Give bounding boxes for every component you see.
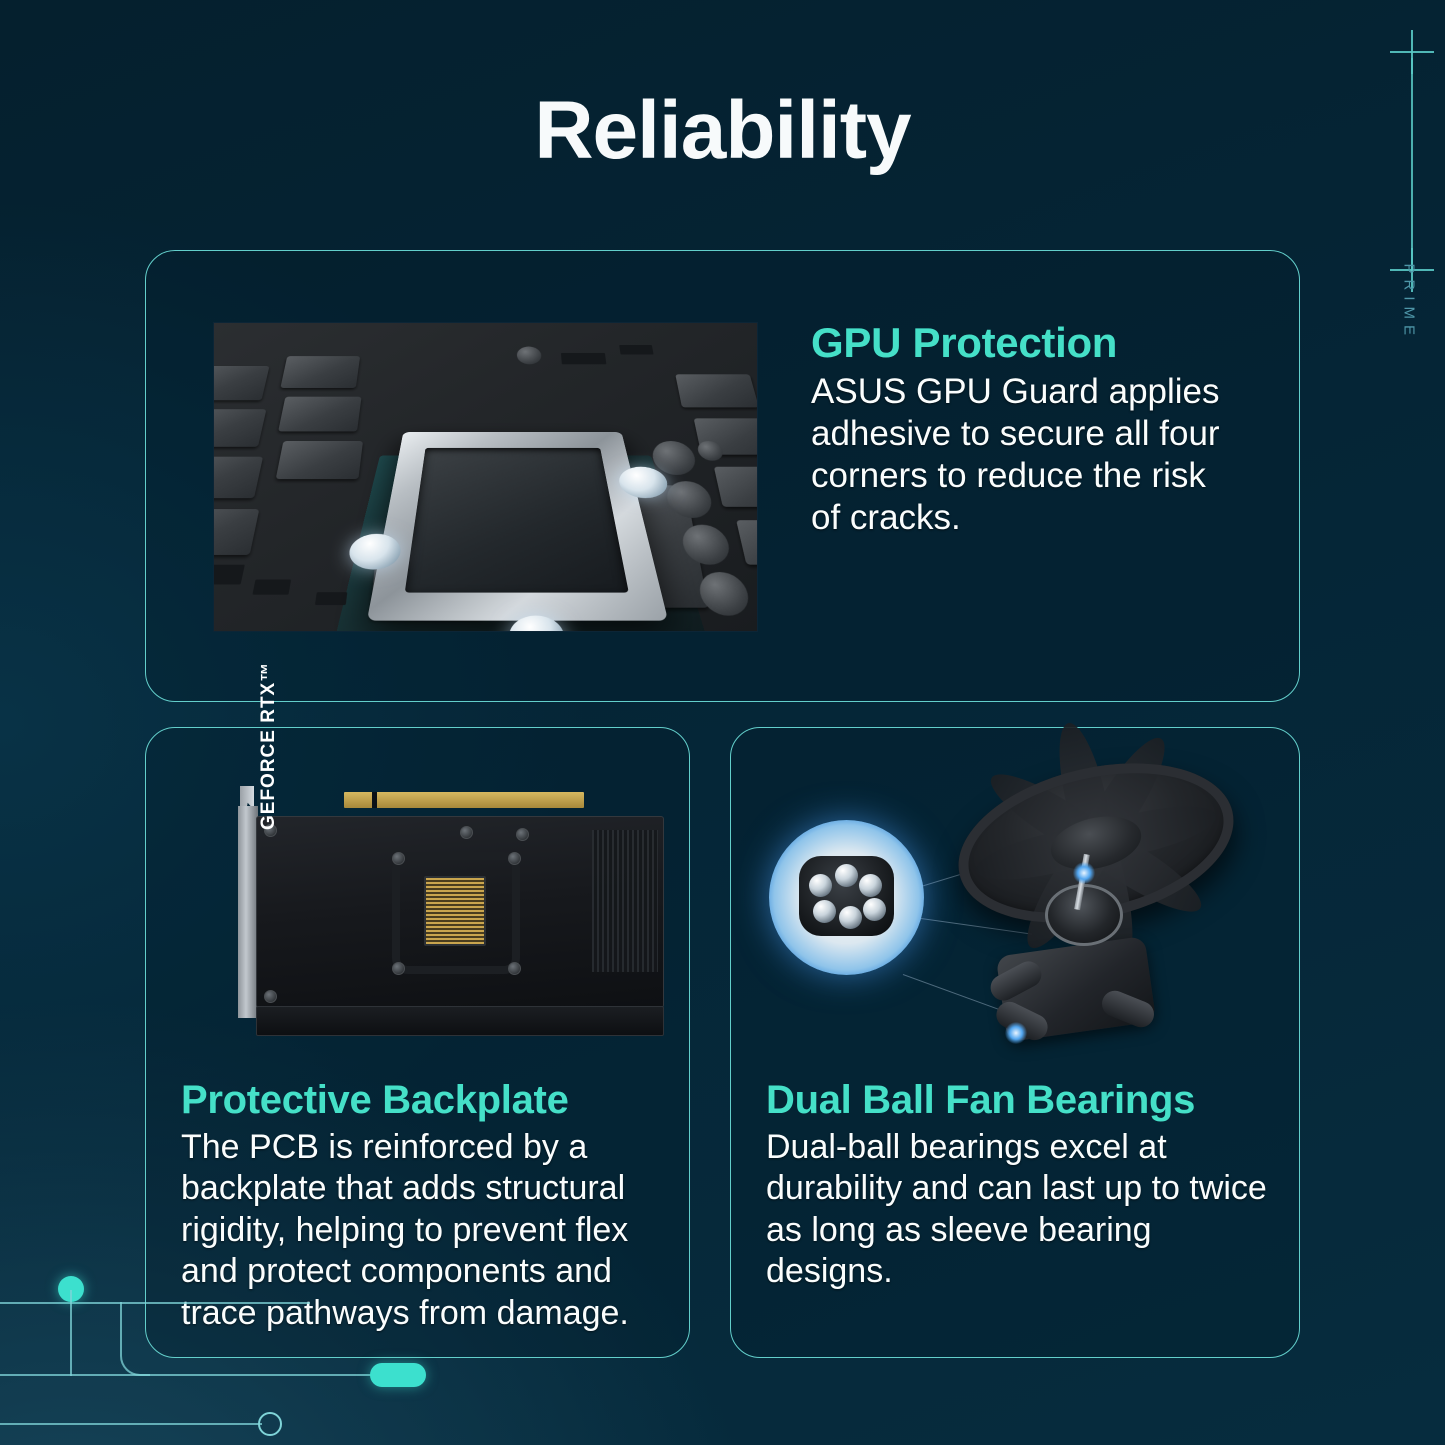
bearing-glow-point [1005, 1022, 1027, 1044]
dual-ball-fan-bearings-text: Dual Ball Fan Bearings Dual-ball bearing… [766, 1078, 1273, 1293]
card-heading: Protective Backplate [181, 1078, 663, 1123]
fan-hub-dual-ball-bearing-diagram [761, 758, 1261, 1058]
card-gpu-protection: GPU Protection ASUS GPU Guard applies ad… [145, 250, 1300, 702]
ball-bearing-cage [799, 856, 894, 936]
gpu-protection-text: GPU Protection ASUS GPU Guard applies ad… [811, 319, 1241, 539]
circuit-node-pill [370, 1363, 426, 1387]
card-heading: GPU Protection [811, 319, 1241, 367]
page-title: Reliability [0, 84, 1445, 178]
vertical-rule [1411, 58, 1413, 273]
gpu-die-adhesive-photo [213, 322, 758, 632]
card-heading: Dual Ball Fan Bearings [766, 1078, 1273, 1123]
prime-edge-marker: PRIME [1381, 0, 1445, 420]
graphics-card-backplate-photo: GEFORCE RTX™ [196, 768, 696, 1043]
gpu-die-contacts [424, 876, 486, 946]
backplate-geforce-label: GEFORCE RTX™ [258, 662, 280, 830]
fan-hub-assembly [983, 876, 1168, 1046]
bearing-glow-point [1073, 862, 1095, 884]
page-root: Reliability PRIME [0, 0, 1445, 1445]
card-body: ASUS GPU Guard applies adhesive to secur… [811, 371, 1241, 539]
pcie-gold-fingers [344, 792, 584, 808]
io-bracket [238, 806, 258, 1018]
bearing-housing [1045, 884, 1123, 946]
circuit-node-ring [258, 1412, 282, 1436]
card-dual-ball-fan-bearings: Dual Ball Fan Bearings Dual-ball bearing… [730, 727, 1300, 1358]
gpu-heat-spreader [367, 432, 668, 621]
heatsink-fins [592, 830, 658, 972]
bearing-magnifier-callout [769, 820, 924, 975]
prime-brand-label: PRIME [1401, 264, 1418, 364]
circuit-decoration [0, 1260, 470, 1445]
card-body: Dual-ball bearings excel at durability a… [766, 1127, 1273, 1293]
